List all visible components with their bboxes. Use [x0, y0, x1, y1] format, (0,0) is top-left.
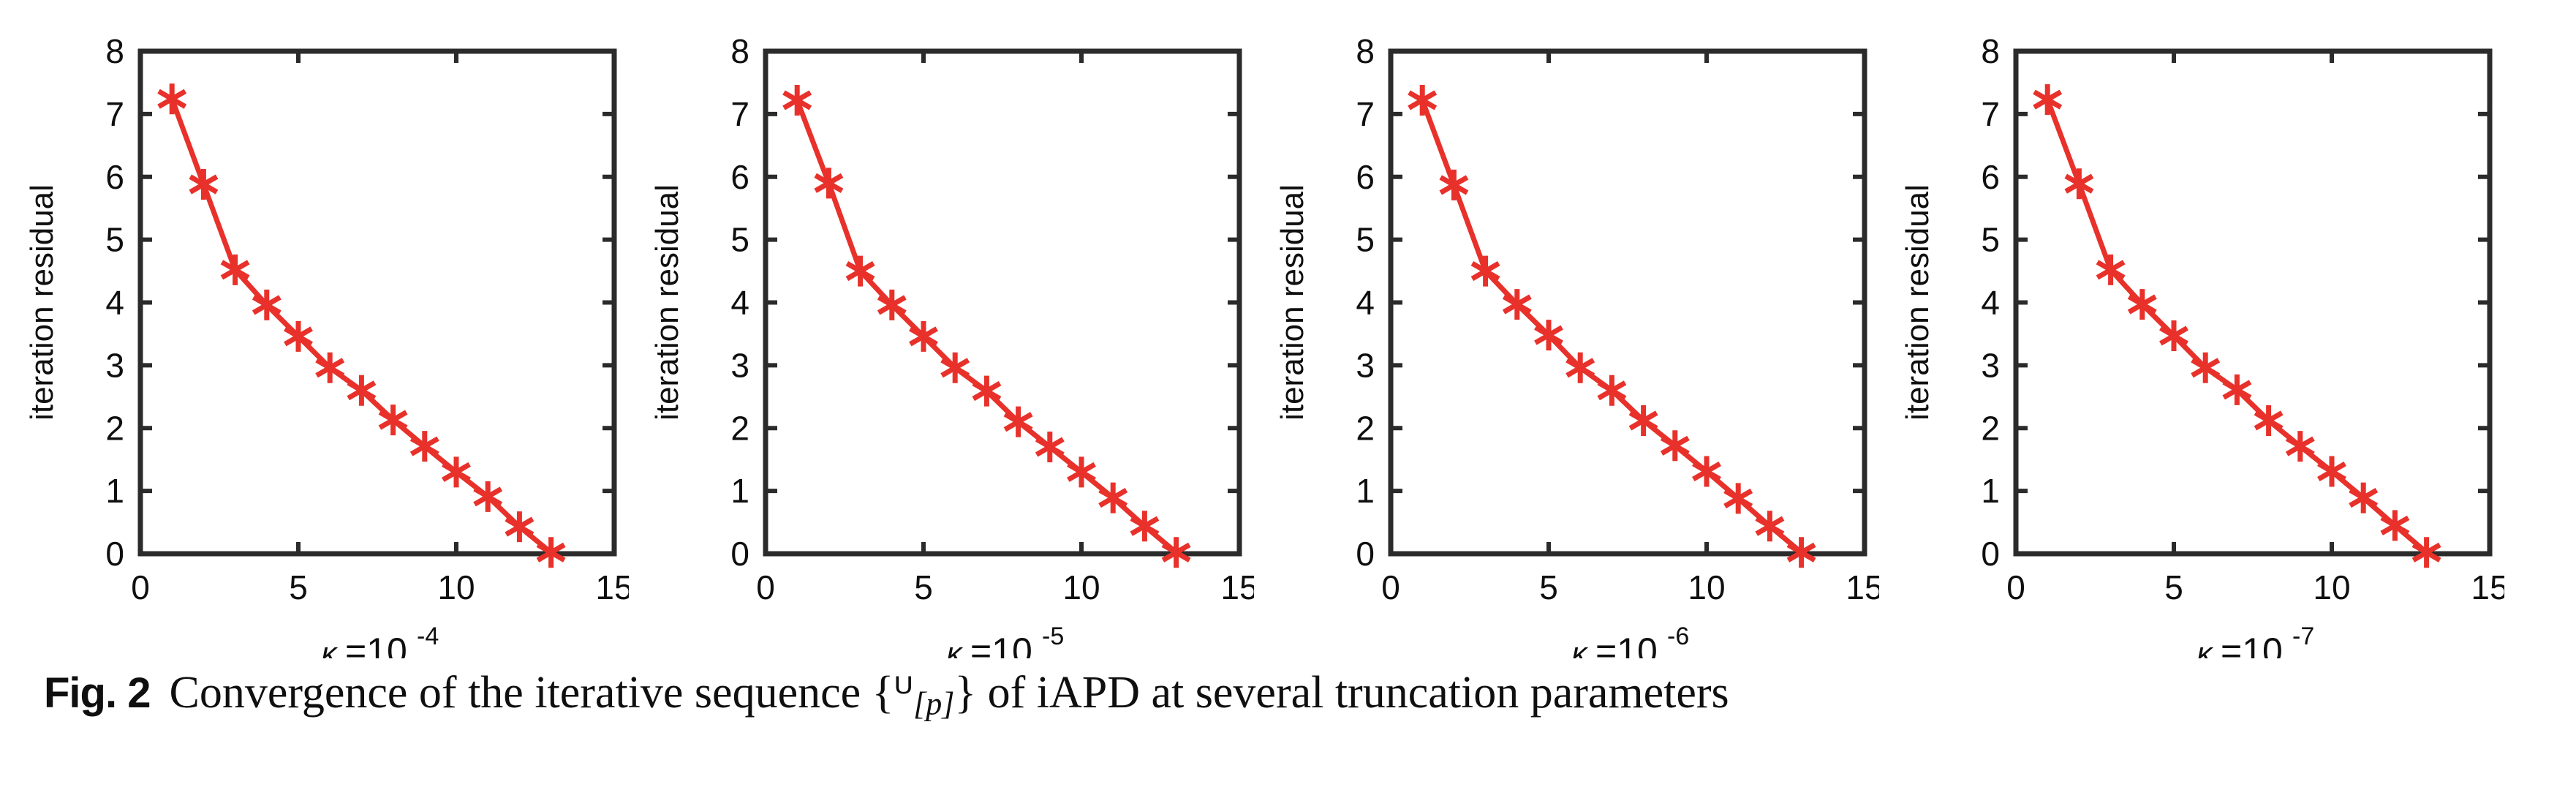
data-point-marker	[1440, 170, 1467, 200]
y-tick-label: 4	[1356, 284, 1375, 322]
kappa-equals-ten: =10	[970, 631, 1032, 658]
y-tick-label: 6	[730, 158, 749, 196]
chart-svg: 012345678051015iteration residualκ=10-7	[1876, 0, 2504, 658]
data-line	[172, 99, 551, 552]
x-tick-label: 10	[1062, 568, 1100, 606]
y-axis-label: iteration residual	[649, 184, 685, 421]
x-tick-label: 5	[914, 568, 933, 606]
y-tick-label: 1	[105, 472, 124, 510]
figure-number: Fig. 2	[44, 669, 150, 717]
y-tick-label: 7	[105, 95, 124, 133]
y-tick-label: 8	[730, 32, 749, 70]
x-tick-label: 0	[756, 568, 775, 606]
caption-text-tail: } of iAPD at several truncation paramete…	[954, 668, 1729, 718]
y-tick-label: 1	[1356, 472, 1375, 510]
figure-caption: Fig. 2Convergence of the iterative seque…	[44, 667, 2530, 755]
chart-panel: 012345678051015iteration residualκ=10-7	[1876, 0, 2504, 658]
data-point-marker	[1037, 432, 1063, 462]
y-tick-label: 0	[730, 535, 749, 573]
axis-ticks	[140, 51, 614, 554]
x-tick-label: 15	[595, 568, 629, 606]
y-tick-label: 4	[105, 284, 124, 322]
data-point-marker	[190, 169, 216, 200]
x-tick-labels: 051015	[131, 568, 629, 606]
x-tick-label: 0	[131, 568, 150, 606]
kappa-equals-ten: =10	[1595, 631, 1658, 658]
x-tick-labels: 051015	[2006, 568, 2504, 606]
x-tick-label: 10	[437, 568, 475, 606]
y-tick-label: 5	[730, 221, 749, 259]
y-tick-label: 2	[1356, 409, 1375, 447]
y-tick-labels: 012345678	[1356, 32, 1375, 573]
chart-panel: 012345678051015iteration residualκ=10-4	[0, 0, 629, 658]
x-axis-label: κ=10-5	[947, 622, 1065, 658]
chart-panel: 012345678051015iteration residualκ=10-5	[625, 0, 1254, 658]
chart-svg: 012345678051015iteration residualκ=10-4	[0, 0, 629, 658]
data-point-marker	[2066, 168, 2092, 199]
y-axis-label: iteration residual	[1274, 184, 1310, 421]
y-tick-label: 0	[1981, 535, 2000, 573]
kappa-symbol: κ	[322, 636, 339, 658]
x-tick-label: 10	[1688, 568, 1725, 606]
kappa-equals-ten: =10	[345, 631, 407, 658]
y-tick-label: 3	[1356, 346, 1375, 384]
data-line	[797, 100, 1176, 552]
x-tick-label: 0	[2006, 568, 2025, 606]
x-tick-label: 5	[289, 568, 308, 606]
x-tick-labels: 051015	[756, 568, 1254, 606]
y-tick-label: 4	[1981, 284, 2000, 322]
kappa-exponent: -6	[1667, 622, 1689, 650]
kappa-exponent: -4	[417, 622, 439, 650]
data-line	[1422, 100, 1801, 552]
x-tick-label: 5	[2164, 568, 2183, 606]
kappa-symbol: κ	[1572, 636, 1589, 658]
figure-root: 012345678051015iteration residualκ=10-4 …	[0, 0, 2576, 790]
plot-box	[2016, 51, 2490, 554]
y-tick-label: 7	[1981, 95, 2000, 133]
data-markers	[1409, 85, 1815, 568]
data-point-marker	[2034, 84, 2061, 115]
y-tick-label: 6	[105, 158, 124, 196]
panels-row: 012345678051015iteration residualκ=10-4 …	[0, 0, 2576, 658]
kappa-exponent: -5	[1042, 622, 1064, 650]
data-markers	[2034, 84, 2440, 568]
y-tick-label: 3	[1981, 346, 2000, 384]
x-axis-label: κ=10-6	[1572, 622, 1690, 658]
data-point-marker	[784, 85, 810, 116]
plot-box	[1391, 51, 1865, 554]
x-tick-label: 5	[1539, 568, 1558, 606]
data-line	[2047, 99, 2426, 552]
y-tick-label: 6	[1981, 158, 2000, 196]
y-tick-labels: 012345678	[1981, 32, 2000, 573]
x-tick-label: 15	[1846, 568, 1879, 606]
y-tick-label: 8	[1981, 32, 2000, 70]
y-tick-label: 1	[1981, 472, 2000, 510]
axis-ticks	[766, 51, 1239, 554]
y-tick-label: 7	[1356, 95, 1375, 133]
kappa-symbol: κ	[947, 636, 964, 658]
plot-box	[766, 51, 1239, 554]
chart-svg: 012345678051015iteration residualκ=10-5	[625, 0, 1254, 658]
y-tick-label: 8	[105, 32, 124, 70]
y-axis-label: iteration residual	[24, 184, 60, 421]
data-point-marker	[1409, 85, 1435, 116]
y-tick-label: 3	[105, 346, 124, 384]
y-tick-label: 7	[730, 95, 749, 133]
y-tick-label: 2	[105, 409, 124, 447]
y-tick-label: 4	[730, 284, 749, 322]
y-tick-label: 1	[730, 472, 749, 510]
chart-panel: 012345678051015iteration residualκ=10-6	[1250, 0, 1879, 658]
x-axis-label: κ=10-7	[2197, 622, 2315, 658]
x-tick-label: 15	[2471, 568, 2504, 606]
caption-text-lead: Convergence of the iterative sequence {	[169, 668, 894, 718]
axis-ticks	[2016, 51, 2490, 554]
y-tick-label: 5	[1981, 221, 2000, 259]
y-tick-label: 2	[730, 409, 749, 447]
axis-ticks	[1391, 51, 1865, 554]
plot-box	[140, 51, 614, 554]
kappa-exponent: -7	[2292, 622, 2314, 650]
x-tick-label: 15	[1220, 568, 1254, 606]
x-tick-label: 0	[1381, 568, 1400, 606]
y-tick-label: 5	[105, 221, 124, 259]
y-tick-label: 8	[1356, 32, 1375, 70]
blackboard-u-symbol: ᵁ	[894, 668, 913, 718]
x-tick-label: 10	[2313, 568, 2350, 606]
y-tick-label: 5	[1356, 221, 1375, 259]
y-tick-labels: 012345678	[105, 32, 124, 573]
x-tick-labels: 051015	[1381, 568, 1879, 606]
data-markers	[159, 83, 564, 568]
y-tick-labels: 012345678	[730, 32, 749, 573]
subscript-p: [p]	[913, 686, 954, 722]
kappa-equals-ten: =10	[2221, 631, 2283, 658]
y-tick-label: 0	[1356, 535, 1375, 573]
kappa-symbol: κ	[2197, 636, 2214, 658]
y-tick-label: 3	[730, 346, 749, 384]
y-tick-label: 6	[1356, 158, 1375, 196]
y-axis-label: iteration residual	[1900, 184, 1935, 421]
data-markers	[784, 85, 1190, 568]
y-tick-label: 2	[1981, 409, 2000, 447]
y-tick-label: 0	[105, 535, 124, 573]
x-axis-label: κ=10-4	[322, 622, 439, 658]
data-point-marker	[815, 168, 842, 198]
data-point-marker	[159, 83, 185, 114]
chart-svg: 012345678051015iteration residualκ=10-6	[1250, 0, 1879, 658]
